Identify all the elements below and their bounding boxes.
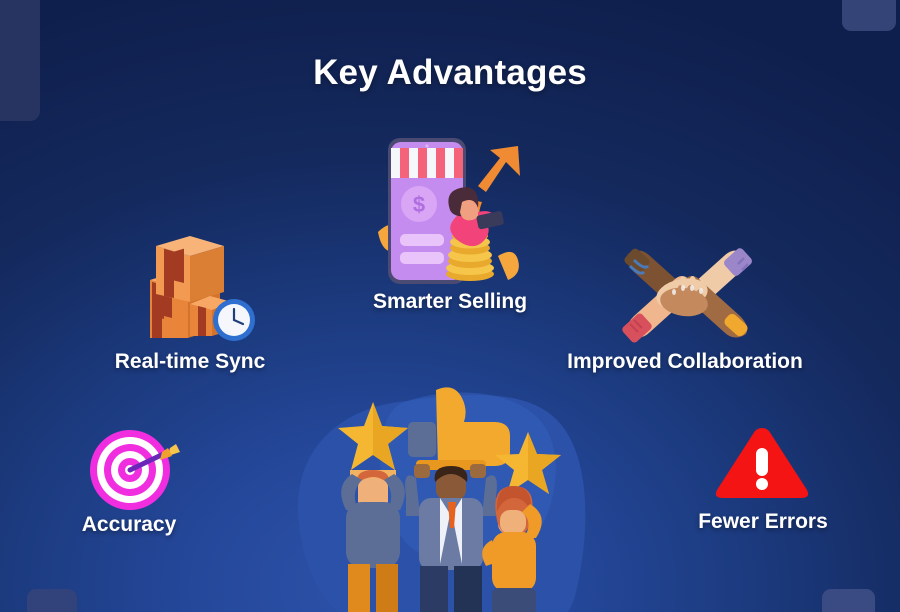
prev-button[interactable] [27,589,77,612]
feature-label-real-time-sync: Real-time Sync [115,350,266,374]
target-arrow-icon [88,428,180,512]
svg-text:$: $ [413,192,425,217]
mobile-commerce-icon: $ [378,132,528,287]
next-button[interactable] [822,589,875,612]
feature-label-smarter-selling: Smarter Selling [373,290,527,314]
feature-label-accuracy: Accuracy [82,513,177,537]
page-title: Key Advantages [0,53,900,93]
feature-label-fewer-errors: Fewer Errors [698,510,828,534]
menu-button[interactable] [842,0,896,31]
warning-triangle-icon [712,424,812,504]
boxes-clock-icon [128,232,258,344]
people-rating-illustration [288,382,598,612]
stacked-hands-icon [616,240,758,348]
slide-canvas: Key Advantages [0,0,900,612]
feature-label-improved-collaboration: Improved Collaboration [567,350,803,374]
